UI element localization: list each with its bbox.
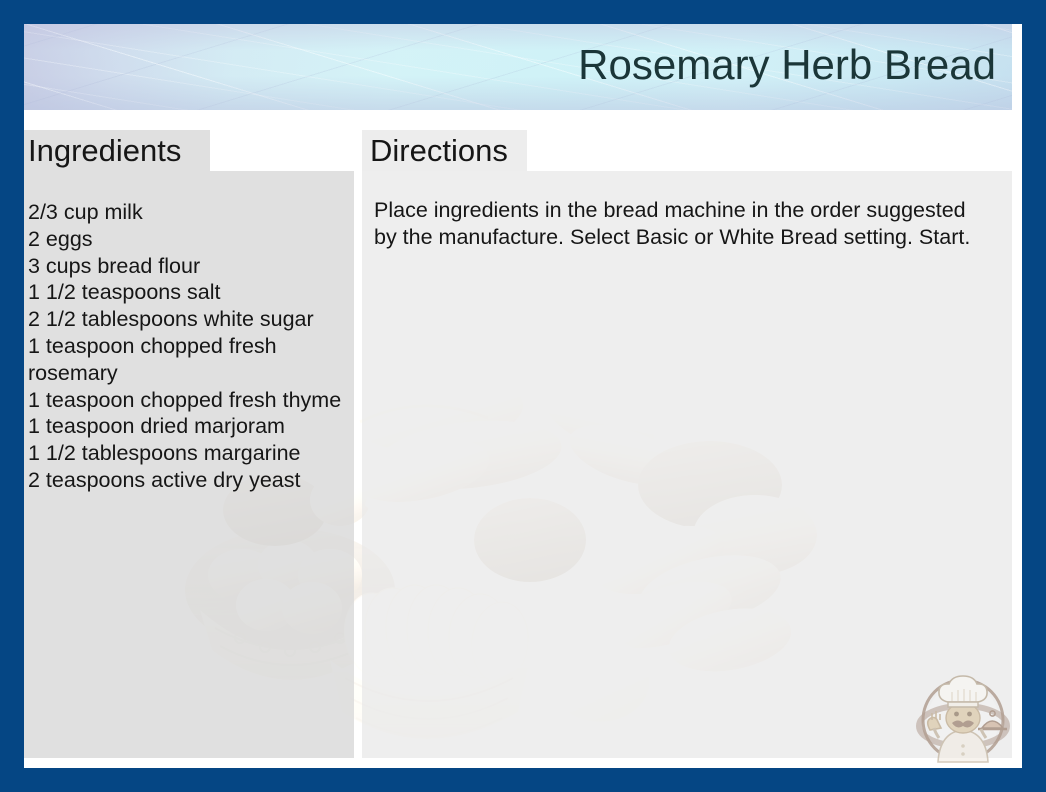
header-banner: Rosemary Herb Bread [20,20,1012,110]
list-item: 1 teaspoon dried marjoram [28,413,344,440]
list-item: 1 teaspoon chopped fresh thyme [28,387,344,414]
list-item: 2 eggs [28,226,344,253]
list-item: 2 1/2 tablespoons white sugar [28,306,344,333]
list-item: 1 1/2 teaspoons salt [28,279,344,306]
directions-heading: Directions [362,130,527,171]
directions-body: Place ingredients in the bread machine i… [362,171,1012,758]
ingredients-heading: Ingredients [20,130,210,171]
ingredients-panel: 2/3 cup milk 2 eggs 3 cups bread flour 1… [20,130,354,758]
list-item: 2 teaspoons active dry yeast [28,467,344,494]
recipe-slide: Rosemary Herb Bread [0,0,1046,792]
directions-text: Place ingredients in the bread machine i… [362,171,1012,251]
ingredients-list: 2/3 cup milk 2 eggs 3 cups bread flour 1… [20,171,354,494]
page-title: Rosemary Herb Bread [578,43,996,87]
list-item: 3 cups bread flour [28,253,344,280]
ingredients-body: 2/3 cup milk 2 eggs 3 cups bread flour 1… [20,171,354,758]
list-item: 2/3 cup milk [28,199,344,226]
directions-panel: Place ingredients in the bread machine i… [362,130,1012,758]
list-item: 1 teaspoon chopped fresh rosemary [28,333,344,387]
list-item: 1 1/2 tablespoons margarine [28,440,344,467]
